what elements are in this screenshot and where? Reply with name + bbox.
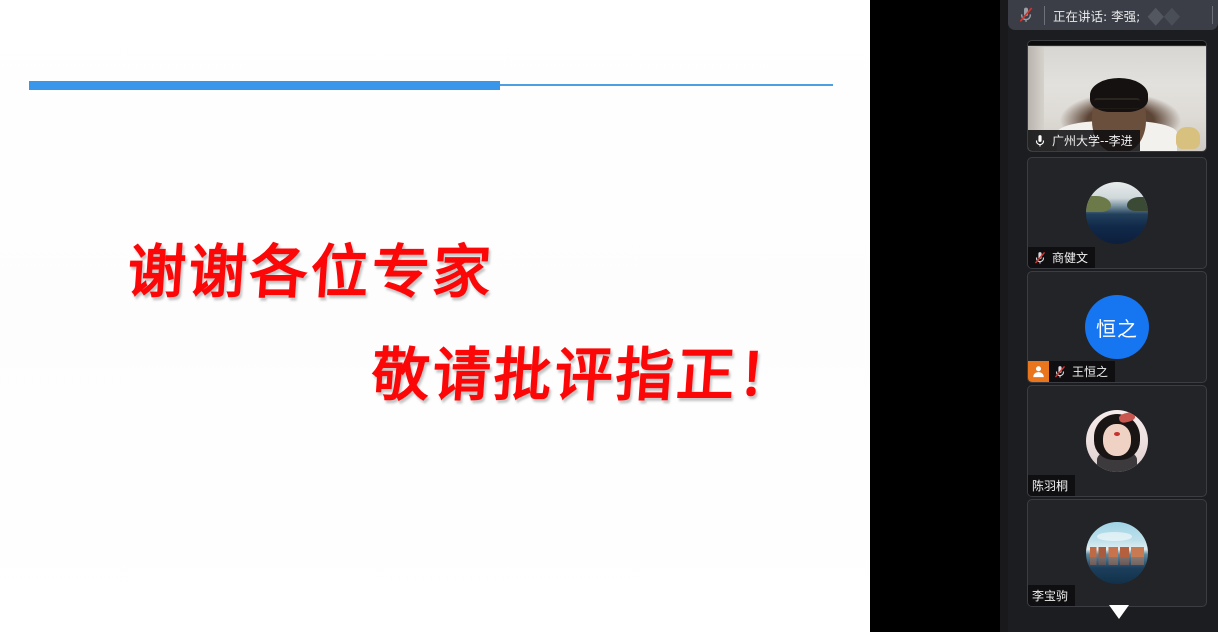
participant-name: 广州大学--李进 — [1052, 132, 1133, 149]
participant-tile[interactable]: 李宝驹 — [1027, 499, 1207, 607]
participant-name: 陈羽桐 — [1032, 477, 1068, 494]
active-speaker-bar[interactable]: 正在讲话: 李强; — [1008, 0, 1218, 30]
avatar-photo-cityscape — [1086, 522, 1148, 584]
avatar — [1086, 522, 1148, 584]
participant-name: 王恒之 — [1072, 363, 1108, 380]
avatar-photo-river — [1086, 182, 1148, 244]
host-person-icon — [1028, 361, 1049, 382]
participant-name-strip: 陈羽桐 — [1028, 475, 1075, 496]
bar-divider-right — [1212, 6, 1213, 24]
microphone-muted-icon[interactable] — [1016, 5, 1036, 25]
slide-heading-line-2: 敬请批评指正！ — [369, 328, 802, 412]
slide-accent-bar-thick — [29, 81, 500, 90]
avatar — [1086, 182, 1148, 244]
participant-name-strip: 广州大学--李进 — [1028, 130, 1140, 151]
avatar-illustration-face — [1103, 424, 1131, 456]
avatar: 恒之 — [1085, 295, 1149, 359]
participant-name: 商健文 — [1052, 249, 1088, 266]
microphone-muted-icon[interactable] — [1032, 250, 1048, 266]
avatar-initials: 恒之 — [1085, 295, 1149, 359]
microphone-muted-icon[interactable] — [1052, 364, 1068, 380]
active-speaker-label: 正在讲话: 李强; — [1053, 6, 1140, 25]
watermark-logo-icon — [1144, 4, 1198, 26]
avatar — [1086, 410, 1148, 472]
slide-accent-bar-thin — [500, 84, 833, 86]
participant-tile[interactable]: 陈羽桐 — [1027, 385, 1207, 497]
participant-tile[interactable]: 商健文 — [1027, 157, 1207, 269]
participant-name: 李宝驹 — [1032, 587, 1068, 604]
participant-name-strip: 王恒之 — [1028, 361, 1115, 382]
participant-name-strip: 李宝驹 — [1028, 585, 1075, 606]
participant-name-strip: 商健文 — [1028, 247, 1095, 268]
shared-screen-area[interactable]: 谢谢各位专家 敬请批评指正！ — [0, 0, 870, 632]
bar-divider — [1044, 6, 1045, 25]
microphone-icon[interactable] — [1032, 133, 1048, 149]
avatar-city-reflection — [1090, 557, 1145, 566]
video-conference-window: 谢谢各位专家 敬请批评指正！ ❯ 正在讲话: 李强; — [0, 0, 1218, 632]
avatar-photo-illustration — [1086, 410, 1148, 472]
webcam-background-lamp — [1176, 127, 1200, 149]
presentation-slide: 谢谢各位专家 敬请批评指正！ — [0, 0, 870, 632]
screen-letterbox-background — [870, 0, 1000, 632]
scroll-down-arrow-icon[interactable] — [1107, 604, 1131, 620]
avatar-city-cloud — [1097, 532, 1132, 541]
participant-tile[interactable]: 恒之 王恒之 — [1027, 271, 1207, 383]
avatar-city-buildings — [1090, 547, 1145, 557]
slide-heading-line-1: 谢谢各位专家 — [125, 225, 497, 309]
webcam-person-glasses — [1094, 98, 1140, 109]
participant-tile[interactable]: 广州大学--李进 — [1027, 40, 1207, 152]
